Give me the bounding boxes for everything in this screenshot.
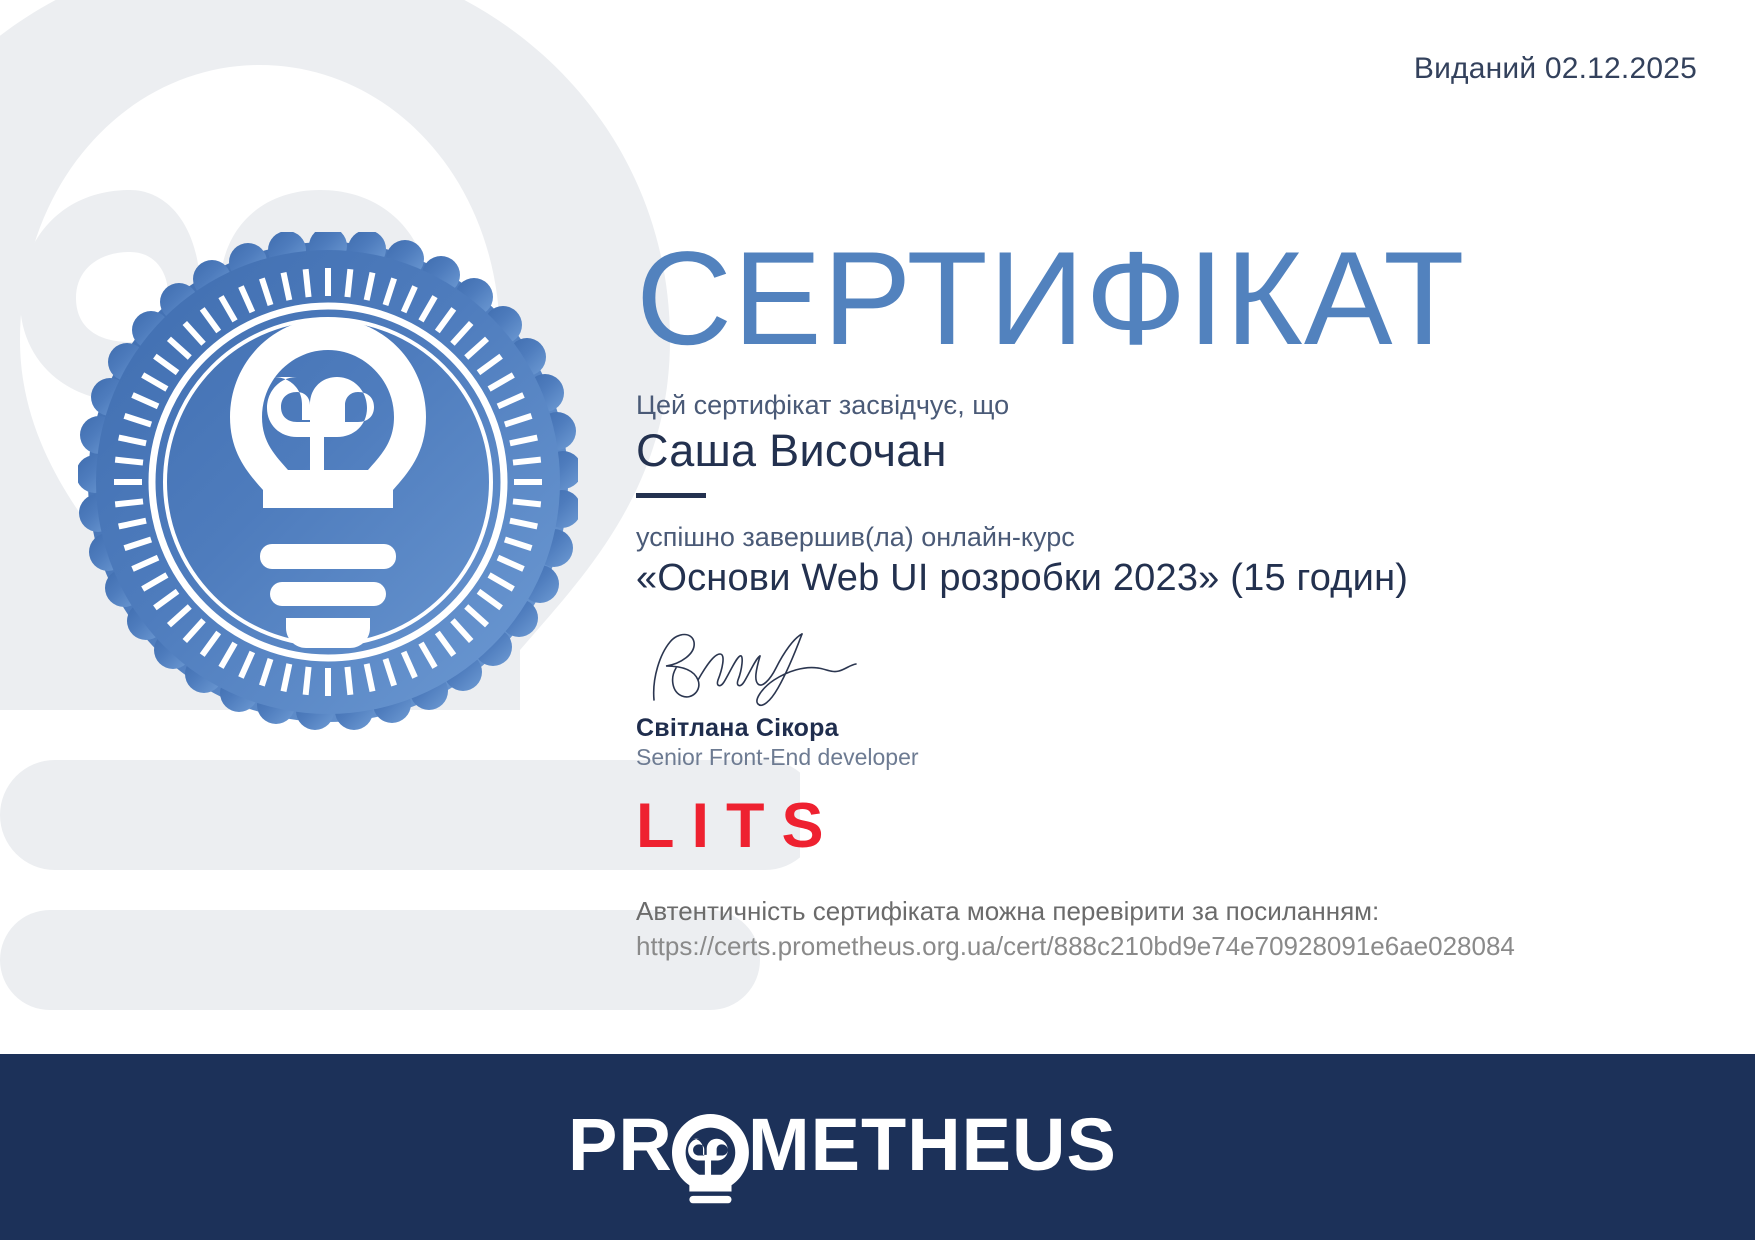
partner-logo-lits: LITS — [636, 795, 1696, 858]
certificate-content: СЕРТИФІКАТ Цей сертифікат засвідчує, що … — [636, 232, 1696, 962]
signature-block: Світлана Сікора Senior Front-End develop… — [636, 626, 1696, 771]
certificate-seal-icon — [78, 232, 578, 752]
footer-bar: PR METHEUS — [0, 1054, 1755, 1240]
recipient-name: Саша Височан — [636, 425, 1696, 477]
verification-url[interactable]: https://certs.prometheus.org.ua/cert/888… — [636, 931, 1696, 962]
svg-text:PR: PR — [568, 1103, 673, 1186]
page-title: СЕРТИФІКАТ — [636, 232, 1696, 368]
prometheus-logo: PR METHEUS — [568, 1098, 1188, 1208]
course-name: «Основи Web UI розробки 2023» (15 годин) — [636, 557, 1696, 600]
verification-block: Автентичність сертифіката можна перевіри… — [636, 896, 1696, 962]
handwritten-signature-icon — [636, 626, 916, 708]
svg-text:METHEUS: METHEUS — [748, 1103, 1117, 1186]
name-divider — [636, 493, 706, 498]
signer-name: Світлана Сікора — [636, 714, 1696, 743]
issued-date: Виданий 02.12.2025 — [1414, 52, 1697, 86]
verification-label: Автентичність сертифіката можна перевіри… — [636, 896, 1696, 927]
awarded-label: Цей сертифікат засвідчує, що — [636, 390, 1696, 421]
completed-label: успішно завершив(ла) онлайн-курс — [636, 522, 1696, 553]
certificate-page: Виданий 02.12.2025 — [0, 0, 1755, 1240]
signer-title: Senior Front-End developer — [636, 744, 1696, 771]
